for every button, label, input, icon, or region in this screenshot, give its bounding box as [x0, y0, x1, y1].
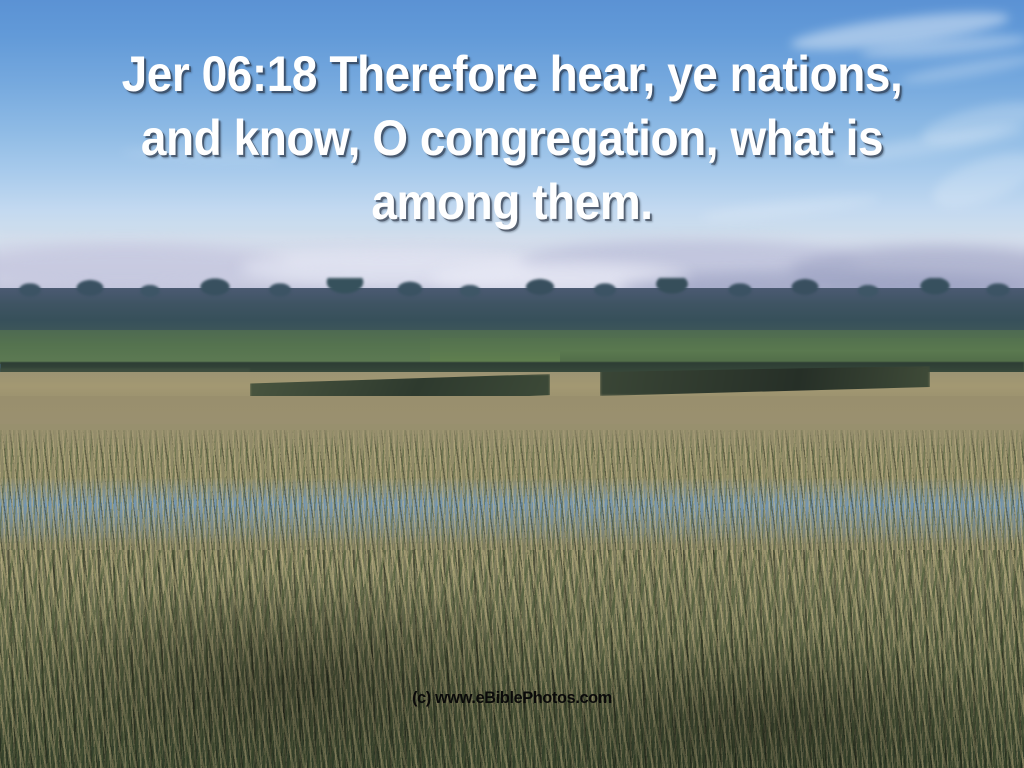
bible-verse-photo: Jer 06:18 Therefore hear, ye nations, an… [0, 0, 1024, 768]
verse-text: Jer 06:18 Therefore hear, ye nations, an… [41, 42, 983, 234]
foreground-rice-field [0, 430, 1024, 768]
field-blend-band [0, 424, 1024, 450]
field-shading-overlay [0, 430, 1024, 768]
watermark-credit: (c) www.eBiblePhotos.com [26, 688, 999, 708]
